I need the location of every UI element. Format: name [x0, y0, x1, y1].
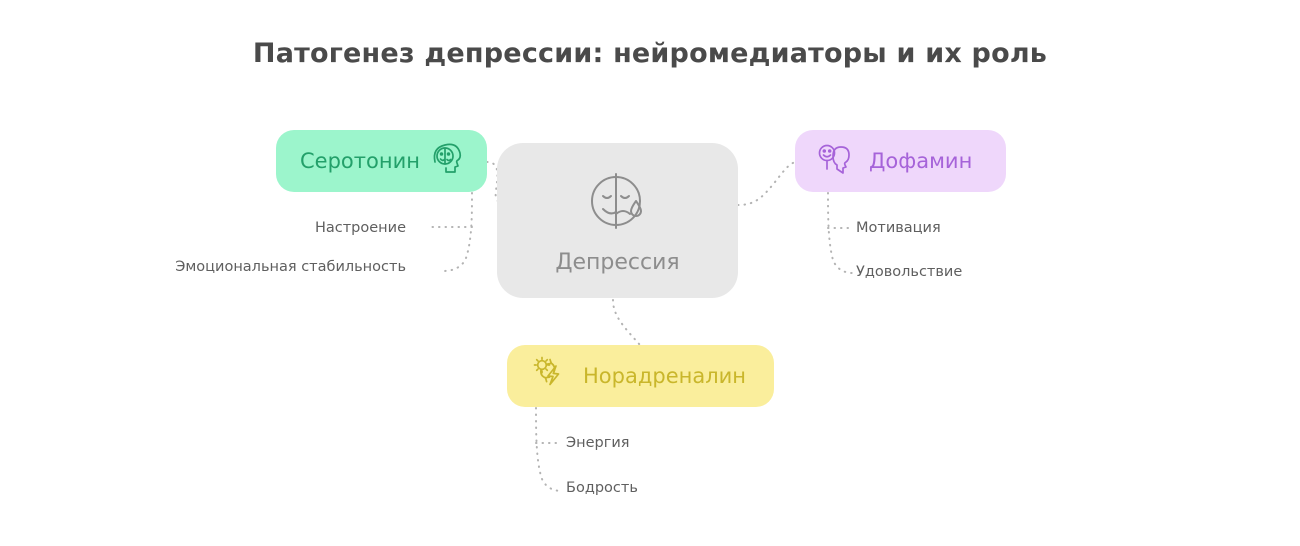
leaf-label-serotonin-mood: Настроение	[315, 220, 406, 236]
sun-with-lightning-bolt-icon	[529, 354, 569, 398]
connector-dopamine-children-trunk	[828, 193, 853, 273]
diagram-canvas: Патогенез депрессии: нейромедиаторы и их…	[0, 0, 1300, 546]
node-noradrenaline[interactable]: Норадреналин	[507, 345, 774, 407]
node-serotonin[interactable]: Серотонин	[276, 130, 487, 192]
head-profile-with-smiley-balloon-icon	[815, 140, 853, 182]
connector-center-to-dopamine	[738, 161, 800, 205]
head-profile-with-smiley-brain-icon	[427, 140, 465, 182]
leaf-label-dopamine-pleasure: Удовольствие	[856, 264, 962, 280]
leaf-label-noradrenaline-vigor: Бодрость	[566, 480, 638, 496]
connector-noradrenaline-children-trunk	[536, 408, 562, 491]
node-depression-label: Депрессия	[555, 250, 679, 275]
node-noradrenaline-label: Норадреналин	[583, 364, 746, 388]
leaf-label-noradrenaline-energy: Энергия	[566, 435, 630, 451]
connector-serotonin-children-trunk	[443, 193, 472, 271]
node-serotonin-label: Серотонин	[300, 149, 420, 173]
page-title: Патогенез депрессии: нейромедиаторы и их…	[0, 38, 1300, 69]
half-happy-half-sad-face-with-tear-icon	[583, 166, 653, 240]
leaf-label-serotonin-emotional-stability: Эмоциональная стабильность	[175, 259, 406, 275]
leaf-label-dopamine-motivation: Мотивация	[856, 220, 941, 236]
node-dopamine[interactable]: Дофамин	[795, 130, 1006, 192]
node-dopamine-label: Дофамин	[869, 149, 972, 173]
node-depression[interactable]: Депрессия	[497, 143, 738, 298]
connector-center-to-noradrenaline	[613, 300, 640, 345]
